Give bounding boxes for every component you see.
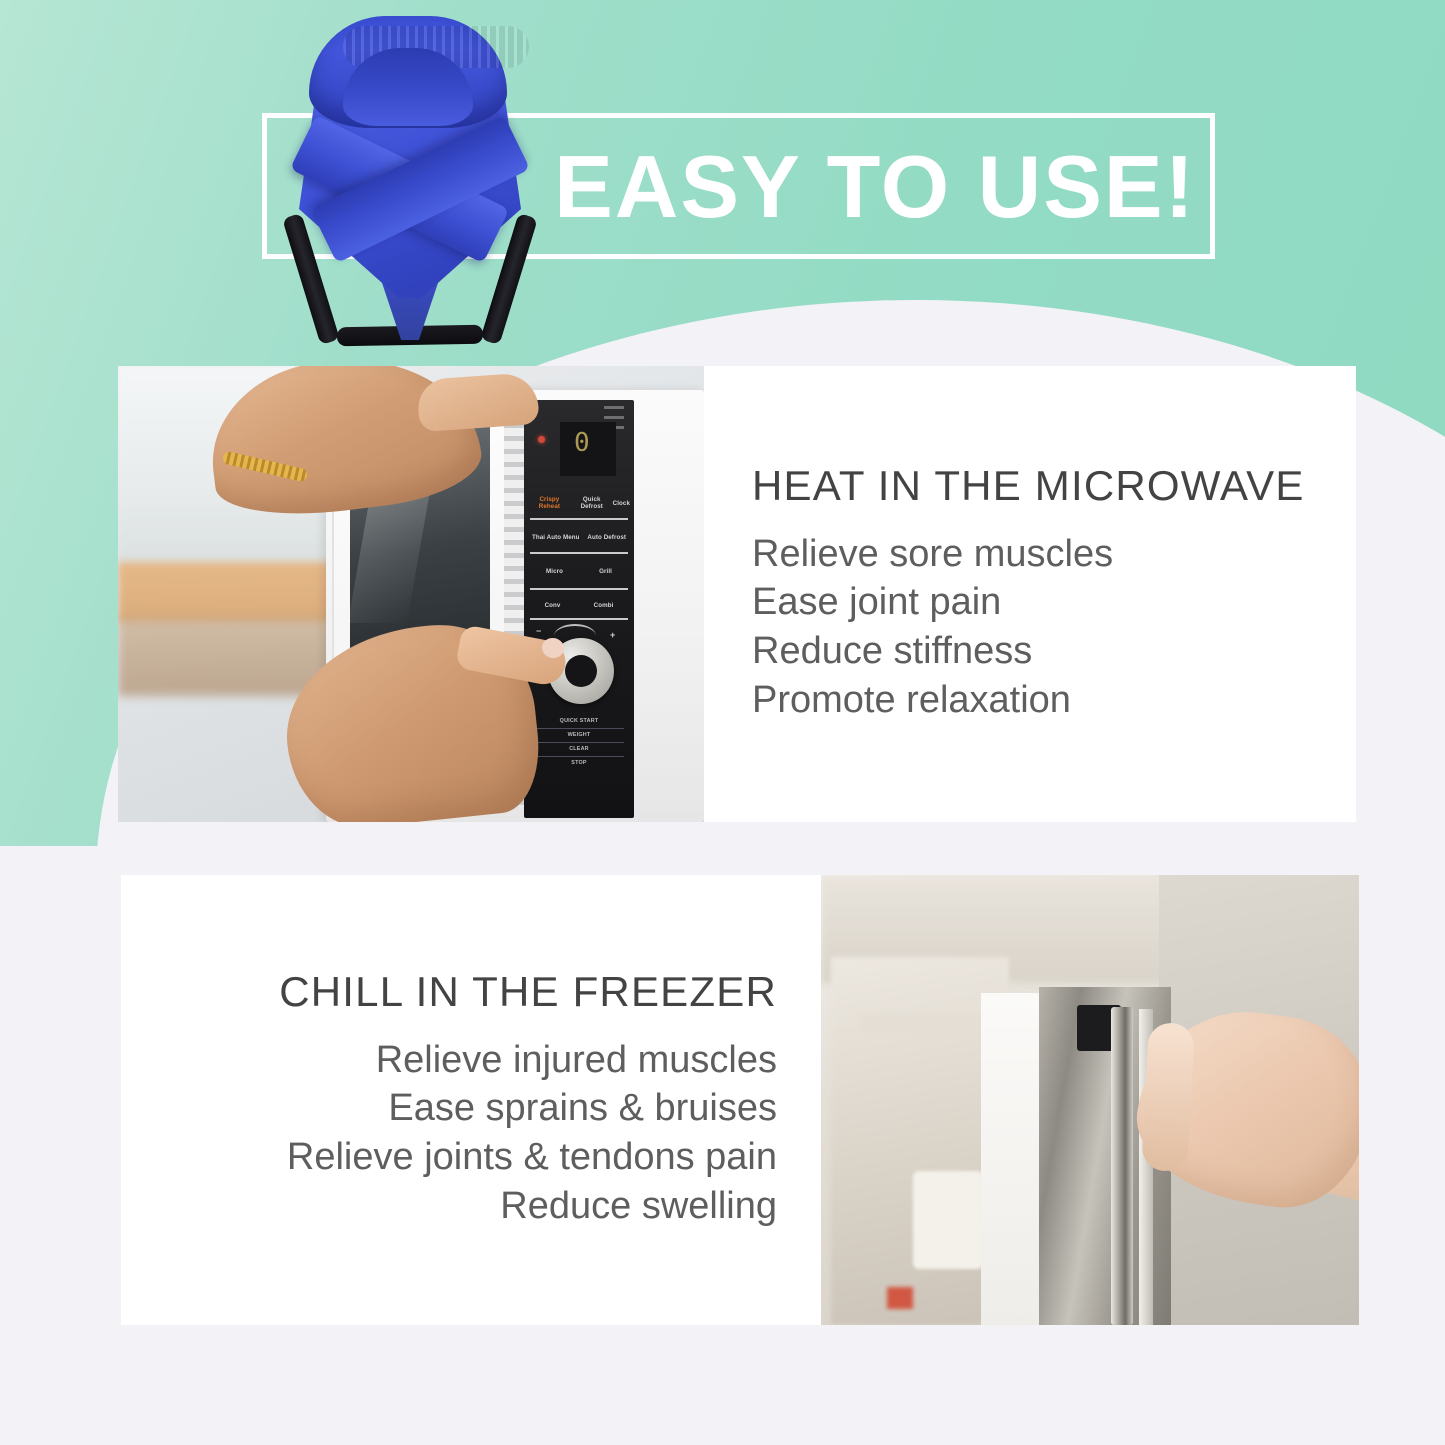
key-micro[interactable]: Micro <box>546 568 563 575</box>
dial-minus-label: − <box>536 626 541 636</box>
list-item: Ease sprains & bruises <box>287 1084 777 1133</box>
panel-bottom-keys[interactable]: QUICK START WEIGHT CLEAR STOP <box>528 718 630 770</box>
dial-plus-label: + <box>610 630 615 640</box>
key-stop[interactable]: STOP <box>528 760 630 766</box>
freezer-red-item <box>887 1287 913 1309</box>
freezer-photo <box>821 875 1359 1325</box>
product-photo-neck-wrap <box>281 8 539 360</box>
key-combi[interactable]: Combi <box>594 602 614 609</box>
list-item: Promote relaxation <box>752 676 1113 725</box>
key-auto-defrost[interactable]: Auto Defrost <box>587 534 626 541</box>
key-conv[interactable]: Conv <box>545 602 561 609</box>
section-card-freezer: CHILL IN THE FREEZER Relieve injured mus… <box>121 875 1359 1325</box>
list-item: Reduce swelling <box>287 1182 777 1231</box>
panel-led-indicator <box>538 436 545 443</box>
microwave-display: 0 <box>560 422 616 476</box>
section-card-microwave: 0 Crispy Reheat Quick Defrost Clock Thai… <box>118 366 1356 822</box>
benefit-list-microwave: Relieve sore muscles Ease joint pain Red… <box>752 530 1113 725</box>
panel-separator-6 <box>534 742 624 743</box>
panel-separator-7 <box>534 756 624 757</box>
microwave-photo: 0 Crispy Reheat Quick Defrost Clock Thai… <box>118 366 704 822</box>
panel-key-row-4[interactable]: Conv Combi <box>528 602 630 609</box>
panel-separator-2 <box>530 552 628 554</box>
section-heading-freezer: CHILL IN THE FREEZER <box>279 970 777 1014</box>
freezer-scene <box>821 875 1359 1325</box>
gripping-fingers <box>1141 1022 1195 1172</box>
panel-separator-5 <box>534 728 624 729</box>
list-item: Relieve sore muscles <box>752 530 1113 579</box>
section-heading-microwave: HEAT IN THE MICROWAVE <box>752 464 1305 508</box>
panel-separator-3 <box>530 588 628 590</box>
panel-separator-1 <box>530 518 628 520</box>
benefit-list-freezer: Relieve injured muscles Ease sprains & b… <box>287 1036 777 1231</box>
panel-indicator-1 <box>604 406 624 409</box>
panel-key-row-1[interactable]: Crispy Reheat Quick Defrost Clock <box>528 496 630 510</box>
key-grill[interactable]: Grill <box>599 568 612 575</box>
fingers-on-door-handle <box>416 372 539 432</box>
page-title: EASY TO USE! <box>555 126 1195 248</box>
list-item: Reduce stiffness <box>752 627 1113 676</box>
key-thai-auto-menu[interactable]: Thai Auto Menu <box>532 534 580 541</box>
key-clock[interactable]: Clock <box>613 500 630 507</box>
dial-arc-indicator <box>554 624 596 636</box>
microwave-text-block: HEAT IN THE MICROWAVE Relieve sore muscl… <box>704 366 1356 822</box>
microwave-scene: 0 Crispy Reheat Quick Defrost Clock Thai… <box>118 366 704 822</box>
list-item: Relieve injured muscles <box>287 1036 777 1085</box>
panel-indicator-2 <box>604 416 624 419</box>
infographic-stage: EASY TO USE! 0 <box>0 0 1445 1445</box>
key-crispy-reheat[interactable]: Crispy Reheat <box>528 496 571 510</box>
key-clear[interactable]: CLEAR <box>528 746 630 752</box>
panel-key-row-3[interactable]: Micro Grill <box>528 568 630 575</box>
list-item: Ease joint pain <box>752 578 1113 627</box>
freezer-door-handle <box>1111 1007 1133 1325</box>
key-quick-start[interactable]: QUICK START <box>528 718 630 724</box>
panel-key-row-2[interactable]: Thai Auto Menu Auto Defrost <box>528 534 630 541</box>
freezer-shelf <box>861 1015 1001 1031</box>
key-quick-defrost[interactable]: Quick Defrost <box>571 496 613 510</box>
key-weight[interactable]: WEIGHT <box>528 732 630 738</box>
freezer-bin <box>913 1171 983 1269</box>
panel-separator-4 <box>530 618 628 620</box>
microwave-control-panel[interactable]: 0 Crispy Reheat Quick Defrost Clock Thai… <box>524 400 634 818</box>
freezer-text-block: CHILL IN THE FREEZER Relieve injured mus… <box>121 875 821 1325</box>
list-item: Relieve joints & tendons pain <box>287 1133 777 1182</box>
display-value: 0 <box>574 430 590 456</box>
